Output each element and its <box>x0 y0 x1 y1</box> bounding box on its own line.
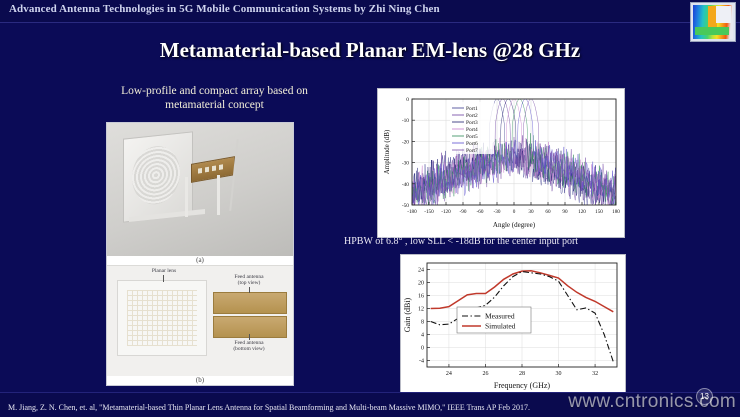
svg-text:-90: -90 <box>460 209 467 215</box>
svg-text:180: 180 <box>612 209 620 215</box>
page-number-badge: 13 <box>696 388 713 405</box>
lens-plate <box>123 131 193 222</box>
svg-text:Port7: Port7 <box>466 148 478 154</box>
svg-text:-120: -120 <box>441 209 451 215</box>
svg-text:Amplitude (dB): Amplitude (dB) <box>383 129 391 174</box>
photo-lens-and-feeds: Planar lens Feed antenna (top view) Feed… <box>107 265 293 376</box>
logo-bar-horizontal <box>695 27 729 35</box>
acrylic-post-left <box>185 177 188 217</box>
radiation-pattern-plot: -180-150-120-90-60-3003060901201501800-1… <box>378 89 624 237</box>
header-bar: Advanced Antenna Technologies in 5G Mobi… <box>0 0 740 23</box>
photo-b-caption: (b) <box>107 376 293 385</box>
hpbw-note: HPBW of 6.8° , low SLL < -18dB for the c… <box>344 236 644 247</box>
svg-text:60: 60 <box>545 209 551 215</box>
feed-antenna-bottom-view <box>213 316 287 338</box>
svg-text:0: 0 <box>421 346 424 352</box>
svg-text:20: 20 <box>418 281 424 287</box>
svg-text:Port5: Port5 <box>466 134 478 140</box>
svg-text:-60: -60 <box>477 209 484 215</box>
svg-text:0: 0 <box>513 209 516 215</box>
chart-gain-vs-frequency: 242628303224201612840-4Frequency (GHz)Ga… <box>400 254 626 394</box>
svg-text:12: 12 <box>418 307 424 313</box>
svg-text:-30: -30 <box>494 209 501 215</box>
photo-prototype-assembly <box>107 123 293 256</box>
page-title: Metamaterial-based Planar EM-lens @28 GH… <box>0 38 740 63</box>
svg-text:Gain (dBi): Gain (dBi) <box>403 297 412 332</box>
photo-panel: (a) Planar lens Feed antenna (top view) … <box>106 122 294 386</box>
svg-text:Measured: Measured <box>485 312 515 321</box>
svg-text:16: 16 <box>418 294 424 300</box>
svg-text:26: 26 <box>482 371 488 377</box>
planar-lens-sample <box>117 280 207 356</box>
svg-text:-4: -4 <box>419 359 424 365</box>
photo-a-caption: (a) <box>107 256 293 265</box>
lens-unit-cell-grid <box>127 290 197 346</box>
svg-text:4: 4 <box>421 333 424 339</box>
feed-antenna-top-view <box>213 292 287 314</box>
svg-text:Port1: Port1 <box>466 106 478 112</box>
svg-text:150: 150 <box>595 209 603 215</box>
left-caption: Low-profile and compact array based on m… <box>117 84 312 112</box>
svg-text:Port3: Port3 <box>466 120 478 126</box>
svg-text:-20: -20 <box>402 139 409 145</box>
svg-text:Port6: Port6 <box>466 141 478 147</box>
svg-text:24: 24 <box>446 371 452 377</box>
slide-canvas: Advanced Antenna Technologies in 5G Mobi… <box>0 0 740 417</box>
svg-text:Frequency (GHz): Frequency (GHz) <box>494 381 551 390</box>
svg-text:24: 24 <box>418 268 424 274</box>
svg-text:120: 120 <box>578 209 586 215</box>
svg-text:8: 8 <box>421 320 424 326</box>
label-planar-lens: Planar lens <box>137 268 191 275</box>
svg-text:32: 32 <box>592 371 598 377</box>
svg-text:-40: -40 <box>402 182 409 188</box>
svg-text:-150: -150 <box>424 209 434 215</box>
svg-text:-180: -180 <box>407 209 417 215</box>
svg-text:30: 30 <box>556 371 562 377</box>
svg-text:Port4: Port4 <box>466 127 478 133</box>
label-feed-bottom-line2: (bottom view) <box>217 346 281 353</box>
em-simulation-logo-icon <box>690 2 736 42</box>
feed-antenna-board <box>191 156 235 183</box>
svg-text:-30: -30 <box>402 161 409 167</box>
chart-radiation-patterns: -180-150-120-90-60-3003060901201501800-1… <box>377 88 625 238</box>
svg-text:Simulated: Simulated <box>485 322 516 331</box>
leader-line-feed-top <box>249 287 250 293</box>
acrylic-post-right <box>217 175 220 215</box>
leader-line-feed-bottom <box>249 334 250 340</box>
lens-ring-pattern <box>132 144 180 207</box>
svg-text:90: 90 <box>562 209 568 215</box>
svg-text:0: 0 <box>406 97 409 103</box>
gain-frequency-plot: 242628303224201612840-4Frequency (GHz)Ga… <box>401 255 625 393</box>
label-feed-top-line2: (top view) <box>217 280 281 287</box>
leader-line-planar-lens <box>163 275 164 282</box>
header-title: Advanced Antenna Technologies in 5G Mobi… <box>9 3 440 15</box>
svg-text:-10: -10 <box>402 118 409 124</box>
svg-text:Port2: Port2 <box>466 113 478 119</box>
svg-text:30: 30 <box>528 209 534 215</box>
svg-text:28: 28 <box>519 371 525 377</box>
logo-bar-corner <box>716 6 731 23</box>
svg-text:-50: -50 <box>402 203 409 209</box>
svg-text:Angle (degree): Angle (degree) <box>493 221 536 229</box>
